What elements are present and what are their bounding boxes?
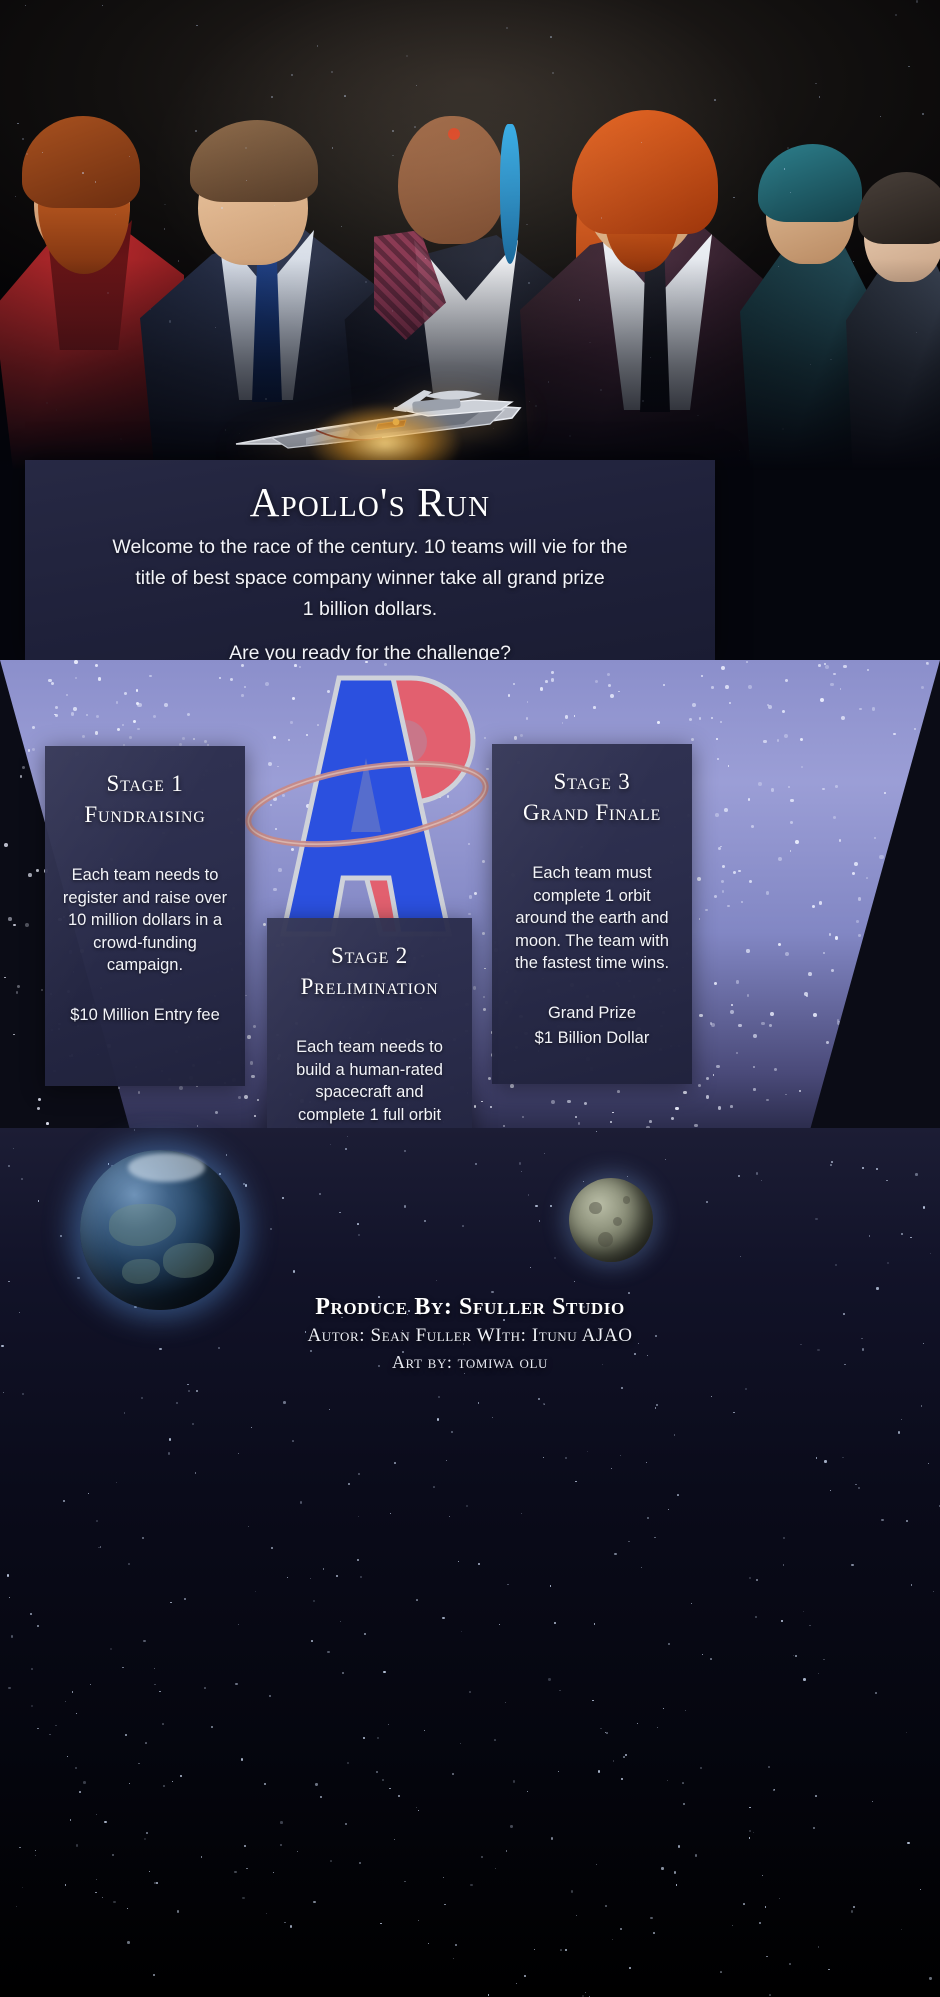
stage-1-note: $10 Million Entry fee — [61, 1003, 229, 1028]
page-title: Apollo's Run — [55, 478, 685, 526]
credits-block: Produce By: Sfuller Studio Autor: Sean F… — [0, 1292, 940, 1375]
stage-3-grand-prize-label: Grand Prize — [508, 1001, 676, 1026]
stage-3-body: Each team must complete 1 orbit around t… — [508, 862, 676, 975]
character-right-figure — [846, 110, 940, 470]
ar-logo-icon — [243, 672, 491, 940]
character-redhead-man — [520, 30, 770, 470]
credit-artist: Art by: tomiwa olu — [0, 1349, 940, 1375]
stage-3-label: Stage 3 — [508, 766, 676, 797]
stage-1-body: Each team needs to register and raise ov… — [61, 864, 229, 977]
intro-line-2: title of best space company winner take … — [55, 563, 685, 594]
ar-logo — [243, 672, 491, 940]
credit-author: Autor: Sean Fuller WIth: Itunu AJAO — [0, 1322, 940, 1349]
moon-icon — [569, 1178, 653, 1262]
stage-3-grand-prize-value: $1 Billion Dollar — [508, 1026, 676, 1051]
intro-line-1: Welcome to the race of the century. 10 t… — [55, 532, 685, 563]
stage-2-label: Stage 2 — [283, 940, 456, 971]
credit-producer: Produce By: Sfuller Studio — [0, 1292, 940, 1322]
stage-card-1[interactable]: Stage 1 Fundraising Each team needs to r… — [45, 746, 245, 1086]
stage-3-name: Grand Finale — [508, 797, 676, 828]
stage-2-name: Prelimination — [283, 971, 456, 1002]
poster-root: Apollo's Run Welcome to the race of the … — [0, 0, 940, 1997]
stage-1-label: Stage 1 — [61, 768, 229, 799]
stage-card-3[interactable]: Stage 3 Grand Finale Each team must comp… — [492, 744, 692, 1084]
intro-line-3: 1 billion dollars. — [55, 594, 685, 625]
title-panel: Apollo's Run Welcome to the race of the … — [25, 460, 715, 660]
stage-1-name: Fundraising — [61, 799, 229, 830]
earth-planet-icon — [80, 1150, 240, 1310]
